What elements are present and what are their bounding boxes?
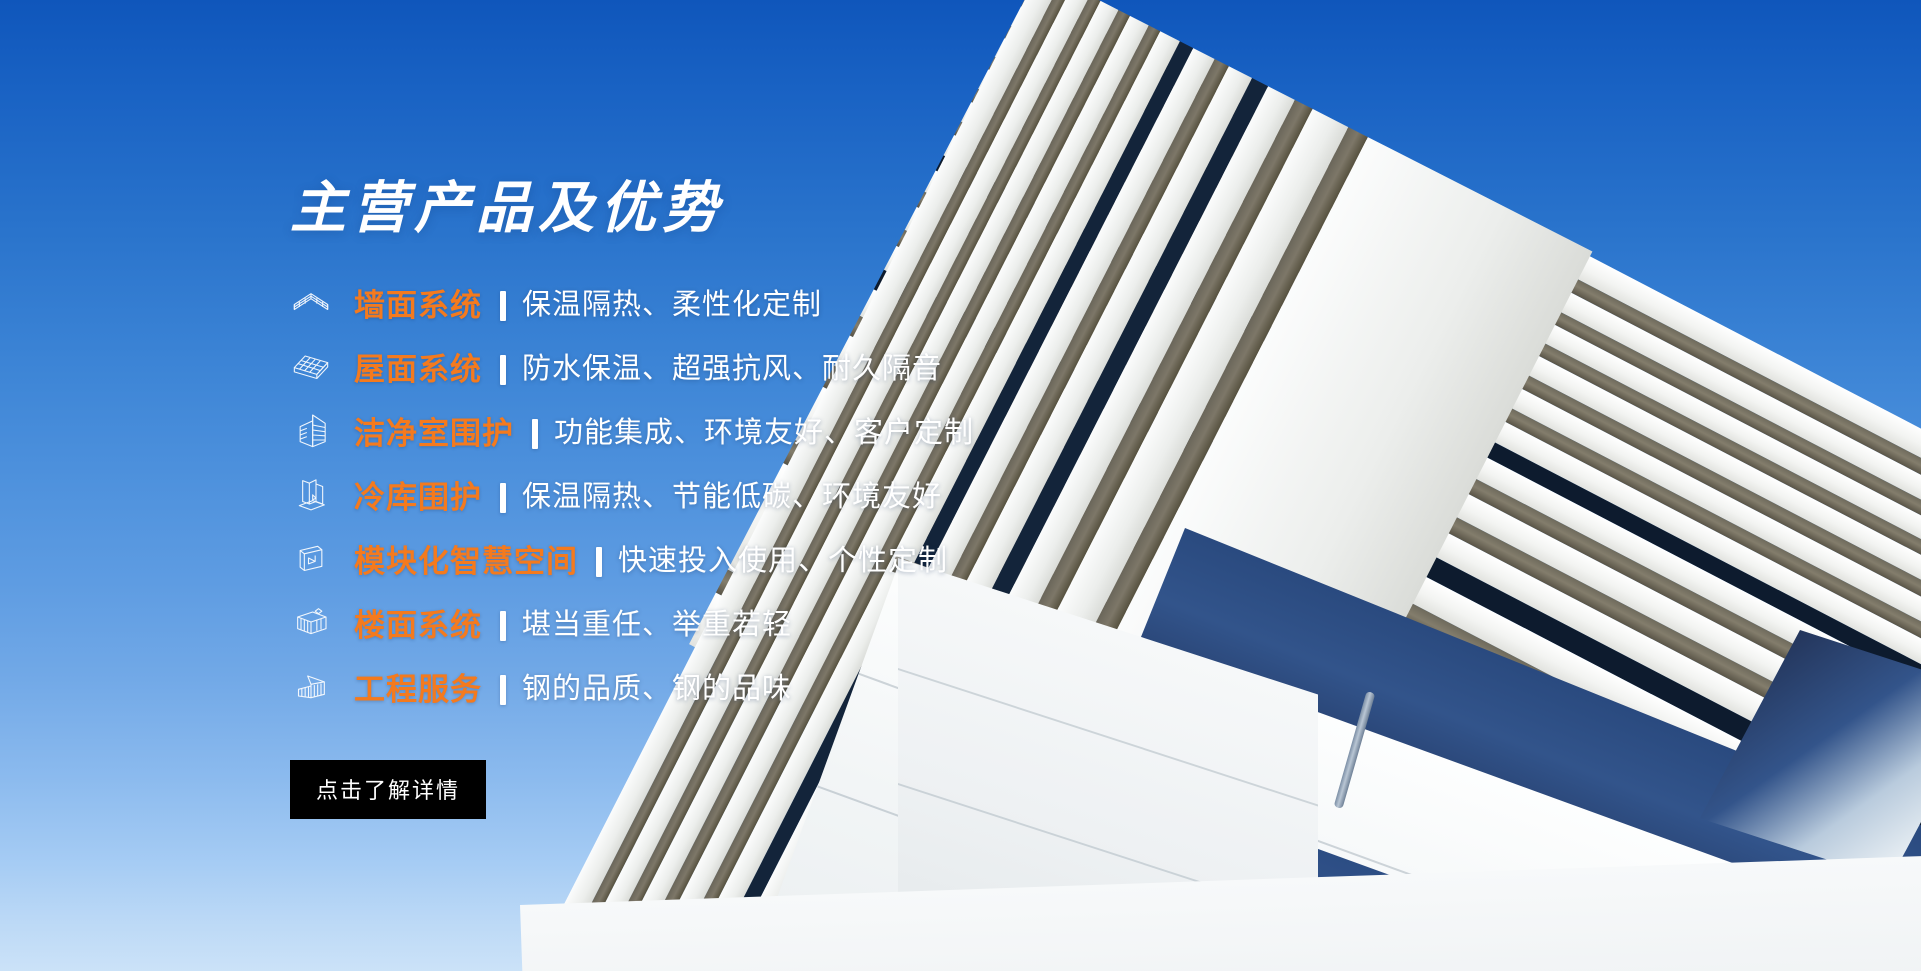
product-description: 堪当重任、举重若轻 bbox=[522, 601, 792, 643]
product-separator bbox=[500, 675, 506, 705]
product-description: 防水保温、超强抗风、耐久隔音 bbox=[522, 345, 942, 387]
building-far-wing bbox=[1700, 630, 1921, 880]
product-name: 冷库围护 bbox=[354, 472, 482, 517]
product-row-wall-system[interactable]: 墙面系统 保温隔热、柔性化定制 bbox=[290, 270, 1290, 334]
hero-banner: 主营产品及优势 墙面系统 保温隔热、柔性化定制 bbox=[0, 0, 1921, 971]
hero-content: 主营产品及优势 墙面系统 保温隔热、柔性化定制 bbox=[290, 180, 1290, 819]
product-description: 功能集成、环境友好、客户定制 bbox=[554, 409, 974, 451]
learn-more-button[interactable]: 点击了解详情 bbox=[290, 760, 486, 819]
product-separator bbox=[500, 483, 506, 513]
product-name: 屋面系统 bbox=[354, 344, 482, 389]
engineering-service-icon bbox=[290, 665, 332, 707]
product-name: 墙面系统 bbox=[354, 280, 482, 325]
product-row-cold-storage[interactable]: 冷库围护 保温隔热、节能低碳、环境友好 bbox=[290, 462, 1290, 526]
wall-system-icon bbox=[290, 281, 332, 323]
modular-space-icon bbox=[290, 537, 332, 579]
page-title: 主营产品及优势 bbox=[290, 180, 1290, 236]
roof-system-icon bbox=[290, 345, 332, 387]
building-downpipe bbox=[1334, 691, 1376, 809]
product-row-floor-system[interactable]: 楼面系统 堪当重任、举重若轻 bbox=[290, 590, 1290, 654]
cleanroom-icon bbox=[290, 409, 332, 451]
building-podium-cap-left bbox=[615, 912, 914, 971]
product-description: 保温隔热、柔性化定制 bbox=[522, 281, 822, 323]
cold-storage-icon bbox=[290, 473, 332, 515]
product-separator bbox=[500, 355, 506, 385]
product-separator bbox=[500, 611, 506, 641]
product-description: 保温隔热、节能低碳、环境友好 bbox=[522, 473, 942, 515]
product-description: 快速投入使用、个性定制 bbox=[618, 537, 948, 579]
product-name: 洁净室围护 bbox=[354, 408, 514, 453]
product-list: 墙面系统 保温隔热、柔性化定制 屋面系统 防水保温、超强抗风、 bbox=[290, 270, 1290, 718]
product-row-roof-system[interactable]: 屋面系统 防水保温、超强抗风、耐久隔音 bbox=[290, 334, 1290, 398]
product-row-modular-space[interactable]: 模块化智慧空间 快速投入使用、个性定制 bbox=[290, 526, 1290, 590]
product-description: 钢的品质、钢的品味 bbox=[522, 665, 792, 707]
product-separator bbox=[500, 291, 506, 321]
product-name: 模块化智慧空间 bbox=[354, 536, 578, 581]
product-separator bbox=[532, 419, 538, 449]
building-base bbox=[520, 853, 1921, 971]
product-row-cleanroom[interactable]: 洁净室围护 功能集成、环境友好、客户定制 bbox=[290, 398, 1290, 462]
product-name: 工程服务 bbox=[354, 664, 482, 709]
floor-system-icon bbox=[290, 601, 332, 643]
product-row-engineering-service[interactable]: 工程服务 钢的品质、钢的品味 bbox=[290, 654, 1290, 718]
product-separator bbox=[596, 547, 602, 577]
product-name: 楼面系统 bbox=[354, 600, 482, 645]
